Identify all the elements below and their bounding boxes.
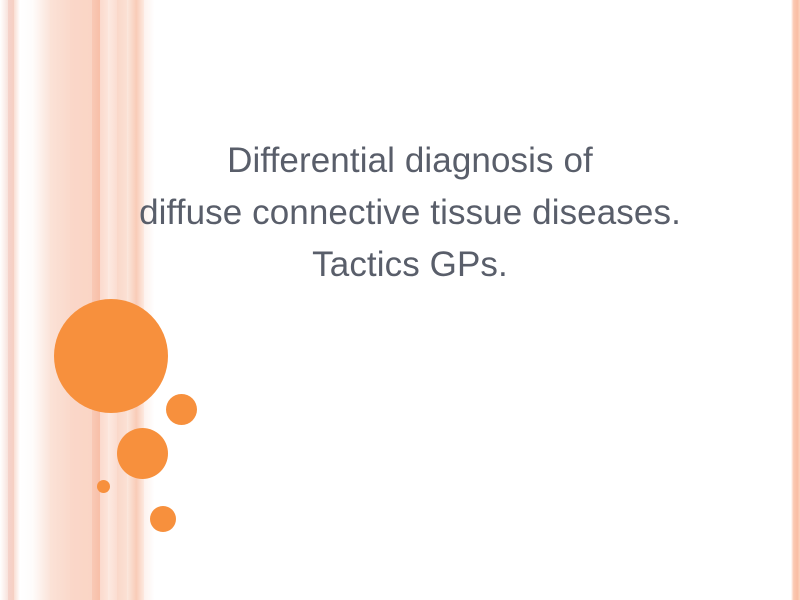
title-line-3: Tactics GPs. bbox=[60, 239, 760, 291]
bubble-dot bbox=[97, 480, 110, 493]
presentation-slide: Differential diagnosis of diffuse connec… bbox=[0, 0, 800, 600]
stripe-5 bbox=[50, 0, 70, 600]
stripe-1 bbox=[8, 0, 14, 600]
bubble-small-upper bbox=[166, 394, 197, 425]
bubble-small-lower bbox=[150, 506, 176, 532]
stripe-11 bbox=[127, 0, 136, 600]
stripe-3 bbox=[20, 0, 32, 600]
title-line-2: diffuse connective tissue diseases. bbox=[60, 187, 760, 239]
stripe-0 bbox=[0, 0, 8, 600]
bubble-large bbox=[54, 299, 168, 413]
stripe-12 bbox=[136, 0, 144, 600]
left-stripe-decoration bbox=[0, 0, 170, 600]
stripe-4 bbox=[32, 0, 50, 600]
slide-title: Differential diagnosis of diffuse connec… bbox=[60, 135, 760, 291]
stripe-6 bbox=[70, 0, 92, 600]
bubble-medium bbox=[117, 428, 168, 479]
stripe-2 bbox=[14, 0, 20, 600]
title-line-1: Differential diagnosis of bbox=[60, 135, 760, 187]
right-stripe-decoration bbox=[791, 0, 800, 600]
